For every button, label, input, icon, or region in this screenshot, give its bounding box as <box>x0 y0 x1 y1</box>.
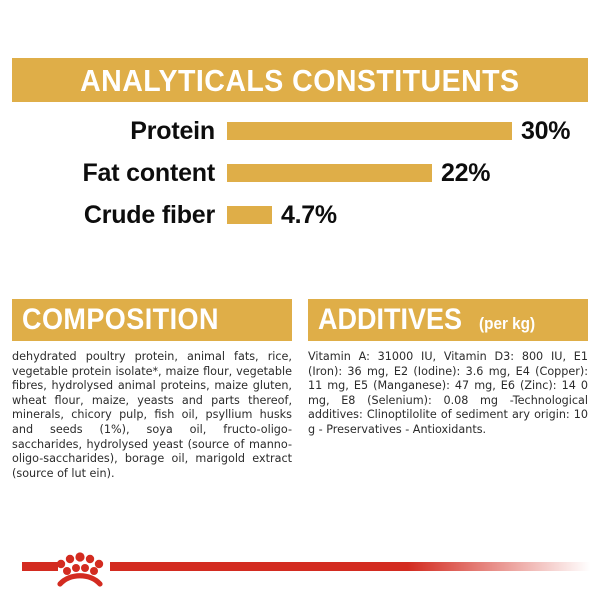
bar-track-fat-content <box>227 164 432 182</box>
footer-logo-strip <box>0 548 600 600</box>
composition-banner-title: COMPOSITION <box>22 305 219 335</box>
additives-banner: ADDITIVES (per kg) <box>308 299 588 341</box>
composition-body-text: dehydrated poultry protein, animal fats,… <box>12 350 292 481</box>
royal-canin-crown-icon <box>52 548 108 588</box>
bar-row: Fat content 22% <box>0 154 600 192</box>
bar-fill-fat-content <box>227 164 432 182</box>
bar-fill-protein <box>227 122 512 140</box>
label-page: ANALYTICALS CONSTITUENTS Protein 30% Fat… <box>0 0 600 600</box>
bar-label-protein: Protein <box>0 119 215 144</box>
composition-banner: COMPOSITION <box>12 299 292 341</box>
footer-bar-right <box>110 562 590 571</box>
additives-banner-subtitle: (per kg) <box>479 315 535 332</box>
bar-row: Crude fiber 4.7% <box>0 196 600 234</box>
analyticals-banner-title: ANALYTICALS CONSTITUENTS <box>80 65 519 96</box>
bar-value-protein: 30% <box>521 119 570 144</box>
analyticals-bar-chart: Protein 30% Fat content 22% Crude fiber … <box>0 112 600 234</box>
bar-row: Protein 30% <box>0 112 600 150</box>
bar-fill-crude-fiber <box>227 206 272 224</box>
bar-label-crude-fiber: Crude fiber <box>0 203 215 228</box>
additives-banner-inline: ADDITIVES (per kg) <box>318 305 541 335</box>
bar-value-fat-content: 22% <box>441 161 490 186</box>
additives-body-text: Vitamin A: 31000 IU, Vitamin D3: 800 IU,… <box>308 350 588 438</box>
bar-track-crude-fiber <box>227 206 272 224</box>
bar-value-crude-fiber: 4.7% <box>281 203 337 228</box>
bar-track-protein <box>227 122 512 140</box>
additives-banner-title: ADDITIVES <box>318 305 462 335</box>
analyticals-constituents-banner: ANALYTICALS CONSTITUENTS <box>12 58 588 102</box>
bar-label-fat-content: Fat content <box>0 161 215 186</box>
